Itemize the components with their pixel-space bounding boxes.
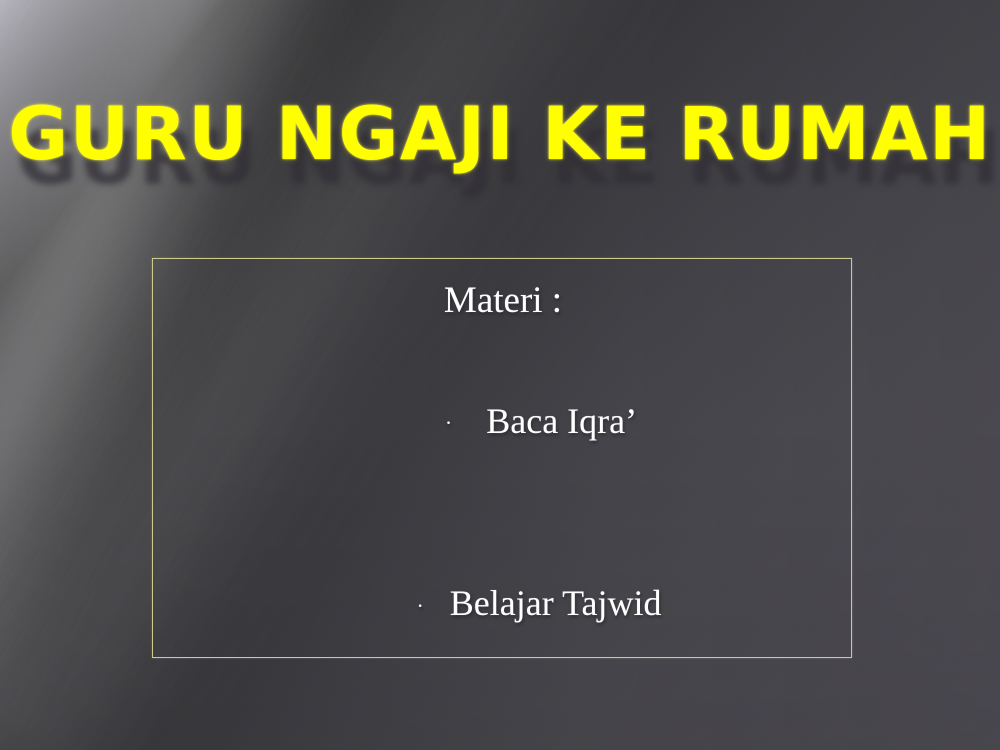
- content-box: Materi : ·Baca Iqra’ ·Belajar Tajwid ·Ba…: [152, 258, 852, 658]
- slide-title: GURU NGAJI KE RUMAH: [0, 92, 1000, 178]
- list-item-label: Belajar Tajwid: [450, 573, 662, 633]
- list-item: ·Baca Al-Qur’an dengan Benar: [151, 696, 851, 750]
- list-item-label: Baca Iqra’: [486, 391, 637, 451]
- content-heading: Materi :: [153, 271, 853, 331]
- presentation-slide: GURU NGAJI KE RUMAH GURU NGAJI KE RUMAH …: [0, 0, 1000, 750]
- list-item: ·Baca Iqra’: [155, 331, 855, 513]
- list-item: ·Belajar Tajwid: [153, 513, 853, 695]
- bullet-icon: ·: [445, 393, 452, 453]
- content-list: Materi : ·Baca Iqra’ ·Belajar Tajwid ·Ba…: [153, 259, 853, 750]
- bullet-icon: ·: [416, 576, 423, 636]
- slide-title-group: GURU NGAJI KE RUMAH GURU NGAJI KE RUMAH: [0, 92, 1000, 212]
